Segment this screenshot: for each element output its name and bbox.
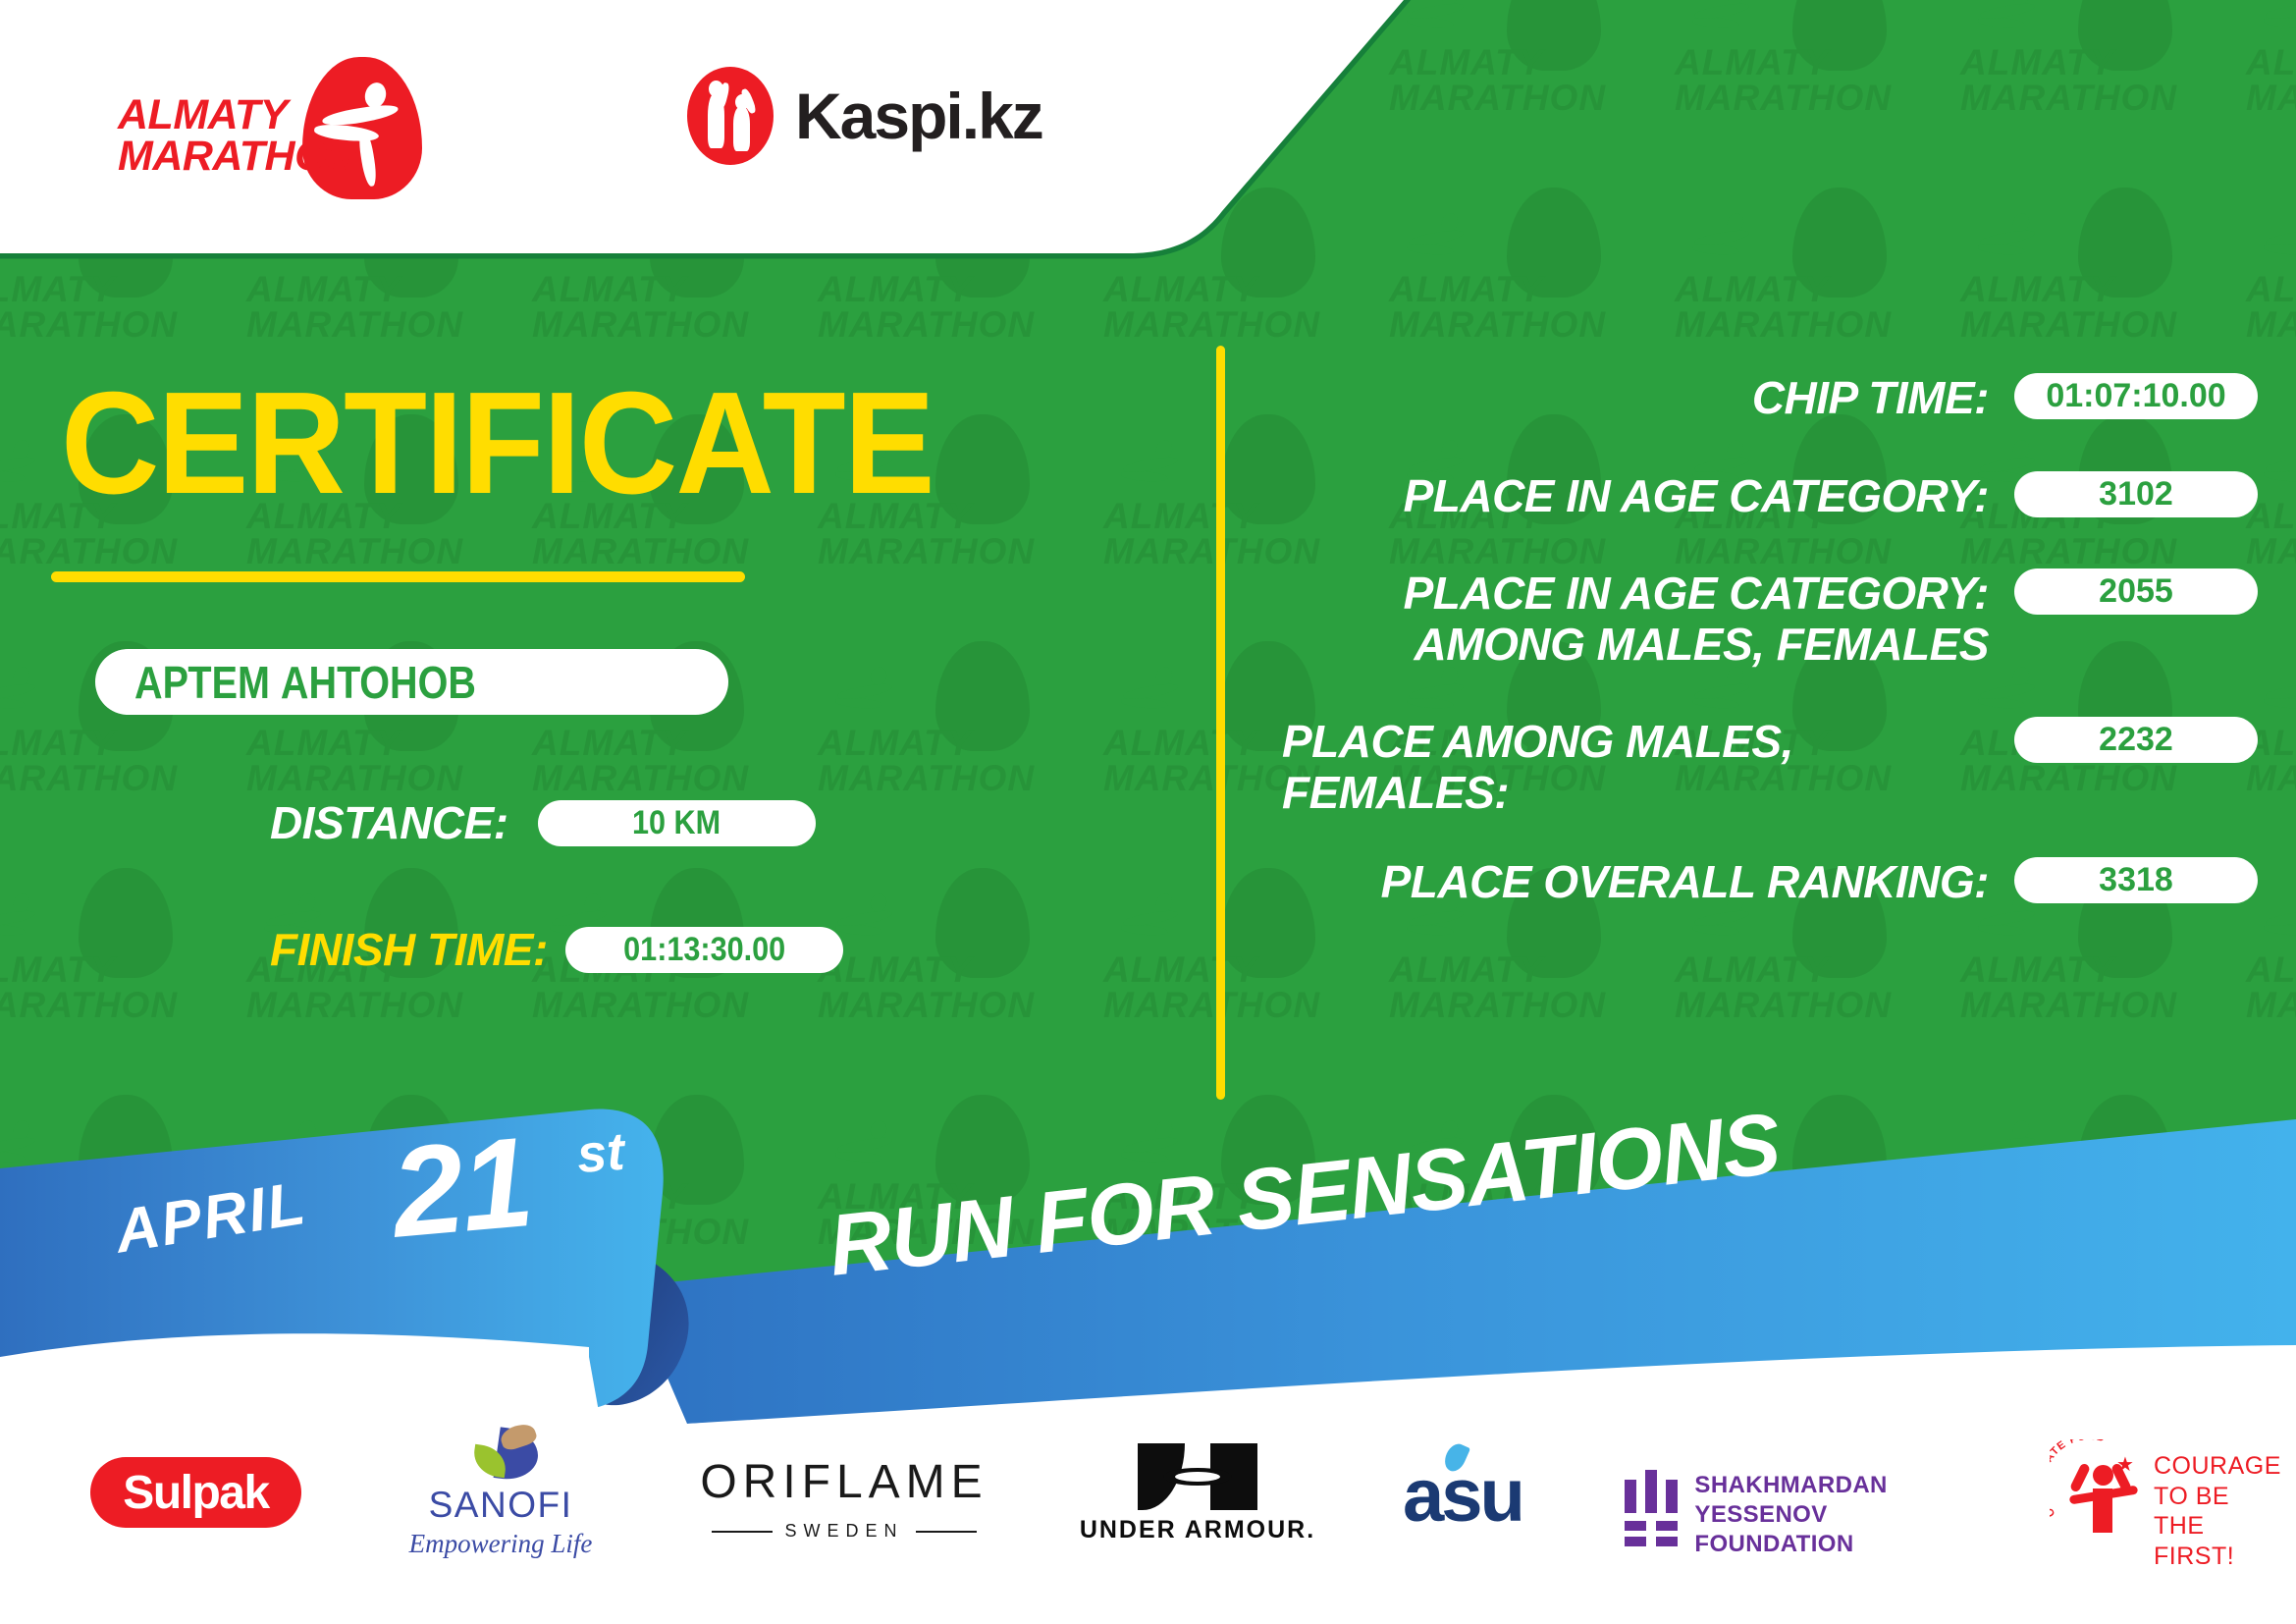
finish-time-row: FINISH TIME: 01:13:30.00 [270, 923, 843, 976]
sponsor-sulpak: Sulpak [90, 1426, 301, 1573]
watermark-runner-icon [835, 899, 896, 939]
page-title: CERTIFICATE [61, 371, 934, 516]
almaty-marathon-logo: ALMATY MARATHON [118, 61, 442, 179]
kaspi-badge-icon [687, 67, 774, 165]
oriflame-wordmark: ORIFLAME [697, 1455, 991, 1509]
yessenov-logo-icon [1625, 1470, 1673, 1556]
almaty-marathon-wordmark: ALMATY MARATHON [118, 94, 357, 177]
finish-time-label: FINISH TIME: [270, 923, 548, 976]
watermark-text: ALMATYMARATHON [1675, 45, 1959, 115]
asu-wordmark: asu [1369, 1453, 1556, 1539]
participant-name-value: АРТЕМ АНТОНОВ [134, 656, 476, 709]
place-age-category-row: PLACE IN AGE CATEGORY: 3102 [1276, 471, 2258, 522]
oriflame-rule-left [712, 1531, 773, 1533]
yessenov-line-2: FOUNDATION [1694, 1531, 1853, 1557]
kaspi-child-body [733, 107, 750, 151]
kaspi-logo: Kaspi.kz [687, 61, 1099, 169]
watermark-text: ALMATYMARATHON [246, 726, 531, 795]
oriflame-sub-row: SWEDEN [697, 1521, 991, 1542]
place-among-gender-label: PLACE AMONG MALES, FEMALES: [1276, 717, 2014, 818]
finish-time-value: 01:13:30.00 [565, 927, 843, 973]
distance-label: DISTANCE: [270, 796, 508, 849]
watermark-text: ALMATYMARATHON [2246, 45, 2296, 115]
watermark-text: ALMATYMARATHON [1103, 952, 1388, 1022]
courage-line-1: COURAGE [2154, 1452, 2281, 1480]
place-among-gender-row: PLACE AMONG MALES, FEMALES: 2232 [1276, 717, 2258, 818]
watermark-runner-icon [2264, 446, 2296, 485]
participant-name-field: АРТЕМ АНТОНОВ [95, 649, 728, 715]
header-panel: ALMATY MARATHON Kaspi.kz [0, 0, 1433, 280]
label-line-1: PLACE AMONG MALES, [1282, 716, 1793, 767]
label-line-1: PLACE IN AGE CATEGORY: [1404, 568, 1989, 619]
watermark-tile: ALMATYMARATHON [2246, 0, 2296, 187]
sponsor-yessenov-foundation: SHAKHMARDAN YESSENOV FOUNDATION [1625, 1426, 1968, 1573]
sponsor-oriflame: ORIFLAME SWEDEN [697, 1426, 991, 1573]
chip-time-row: CHIP TIME: 01:07:10.00 [1276, 373, 2258, 424]
oriflame-rule-right [916, 1531, 977, 1533]
oriflame-country: SWEDEN [784, 1521, 903, 1542]
sponsor-sanofi: SANOFI Empowering Life [393, 1426, 609, 1573]
label-line-2: AMONG MALES, FEMALES [1415, 619, 1989, 670]
watermark-runner-icon [0, 673, 39, 712]
marathon-word: MARATHON [118, 133, 357, 180]
watermark-text: ALMATYMARATHON [532, 726, 817, 795]
place-age-category-gender-value: 2055 [2014, 568, 2258, 615]
watermark-text: ALMATYMARATHON [818, 952, 1102, 1022]
watermark-runner-icon [0, 899, 39, 939]
yessenov-line-1: SHAKHMARDAN YESSENOV [1694, 1472, 1887, 1528]
watermark-text: ALMATYMARATHON [2246, 272, 2296, 342]
watermark-runner-icon [1692, 0, 1753, 31]
results-list: CHIP TIME: 01:07:10.00 PLACE IN AGE CATE… [1276, 373, 2258, 942]
star-icon: ★ [2116, 1455, 2134, 1475]
watermark-text: ALMATYMARATHON [818, 726, 1102, 795]
watermark-runner-icon [2264, 899, 2296, 939]
title-underline [51, 571, 745, 582]
courage-line-3: THE FIRST! [2154, 1512, 2234, 1570]
watermark-text: ALMATYMARATHON [2246, 952, 2296, 1022]
watermark-text: ALMATYMARATHON [1389, 952, 1674, 1022]
watermark-runner-icon [0, 446, 39, 485]
label-line-2: FEMALES: [1282, 767, 1509, 818]
kaspi-wordmark: Kaspi.kz [795, 79, 1042, 153]
column-divider [1216, 346, 1225, 1100]
chip-time-value: 01:07:10.00 [2014, 373, 2258, 419]
place-age-category-gender-label: PLACE IN AGE CATEGORY: AMONG MALES, FEMA… [1276, 568, 2014, 670]
sanofi-tagline: Empowering Life [393, 1529, 609, 1559]
watermark-text: ALMATYMARATHON [1960, 952, 2245, 1022]
watermark-tile: ALMATYMARATHON [1960, 0, 2245, 187]
watermark-tile: ALMATYMARATHON [818, 868, 1102, 1094]
courage-line-2: TO BE [2154, 1483, 2229, 1510]
watermark-runner-icon [835, 673, 896, 712]
sponsor-under-armour: UNDER ARMOUR. [1075, 1426, 1320, 1573]
place-overall-value: 3318 [2014, 857, 2258, 903]
sponsor-strip: Sulpak SANOFI Empowering Life ORIFLAME S… [0, 1426, 2296, 1593]
place-overall-label: PLACE OVERALL RANKING: [1276, 857, 2014, 908]
watermark-runner-icon [2264, 219, 2296, 258]
watermark-tile: ALMATYMARATHON [532, 868, 817, 1094]
watermark-runner-icon [2264, 0, 2296, 31]
watermark-runner-icon [1978, 0, 2039, 31]
watermark-tile: ALMATYMARATHON [246, 868, 531, 1094]
watermark-text: ALMATYMARATHON [0, 952, 245, 1022]
watermark-runner-icon [2264, 673, 2296, 712]
watermark-text: ALMATYMARATHON [1960, 45, 2245, 115]
sanofi-wordmark: SANOFI [393, 1485, 609, 1526]
chip-time-label: CHIP TIME: [1276, 373, 2014, 424]
watermark-tile: ALMATYMARATHON [0, 868, 245, 1094]
place-age-category-value: 3102 [2014, 471, 2258, 517]
watermark-runner-icon [1692, 219, 1753, 258]
event-ribbon: APRIL 21 st RUN FOR SENSATIONS [0, 1100, 2296, 1424]
watermark-text: ALMATYMARATHON [1960, 272, 2245, 342]
watermark-tile: ALMATYMARATHON [818, 641, 1102, 867]
watermark-runner-icon [1121, 899, 1182, 939]
certificate-page: ALMATYMARATHONALMATYMARATHONALMATYMARATH… [0, 0, 2296, 1624]
place-age-category-gender-row: PLACE IN AGE CATEGORY: AMONG MALES, FEMA… [1276, 568, 2258, 670]
almaty-word: ALMATY [118, 91, 288, 138]
place-among-gender-value: 2232 [2014, 717, 2258, 763]
watermark-runner-icon [1121, 446, 1182, 485]
watermark-tile: ALMATYMARATHON [1675, 0, 1959, 187]
courage-fund-logo-icon: CORPORATE FUND ★ [2052, 1441, 2146, 1540]
watermark-text: ALMATYMARATHON [1675, 272, 1959, 342]
asu-text: asu [1403, 1454, 1522, 1538]
place-overall-row: PLACE OVERALL RANKING: 3318 [1276, 857, 2258, 908]
watermark-runner-icon [1978, 219, 2039, 258]
under-armour-wordmark: UNDER ARMOUR. [1075, 1516, 1320, 1544]
under-armour-logo-icon [1138, 1443, 1257, 1510]
courage-fund-wordmark: COURAGE TO BE THE FIRST! [2154, 1451, 2281, 1571]
sponsor-courage-fund: CORPORATE FUND ★ COURAGE TO BE THE FIRST… [2052, 1426, 2277, 1573]
place-age-category-label: PLACE IN AGE CATEGORY: [1276, 471, 2014, 522]
watermark-text: ALMATYMARATHON [1675, 952, 1959, 1022]
distance-row: DISTANCE: 10 KM [270, 796, 816, 849]
sulpak-wordmark: Sulpak [123, 1466, 268, 1520]
watermark-runner-icon [1121, 673, 1182, 712]
sponsor-asu: asu [1369, 1426, 1556, 1573]
yessenov-wordmark: SHAKHMARDAN YESSENOV FOUNDATION [1694, 1471, 1968, 1559]
sulpak-logo-icon: Sulpak [90, 1457, 301, 1528]
distance-value: 10 KM [538, 800, 816, 846]
sanofi-logo-icon [461, 1426, 540, 1483]
watermark-text: ALMATYMARATHON [0, 726, 245, 795]
